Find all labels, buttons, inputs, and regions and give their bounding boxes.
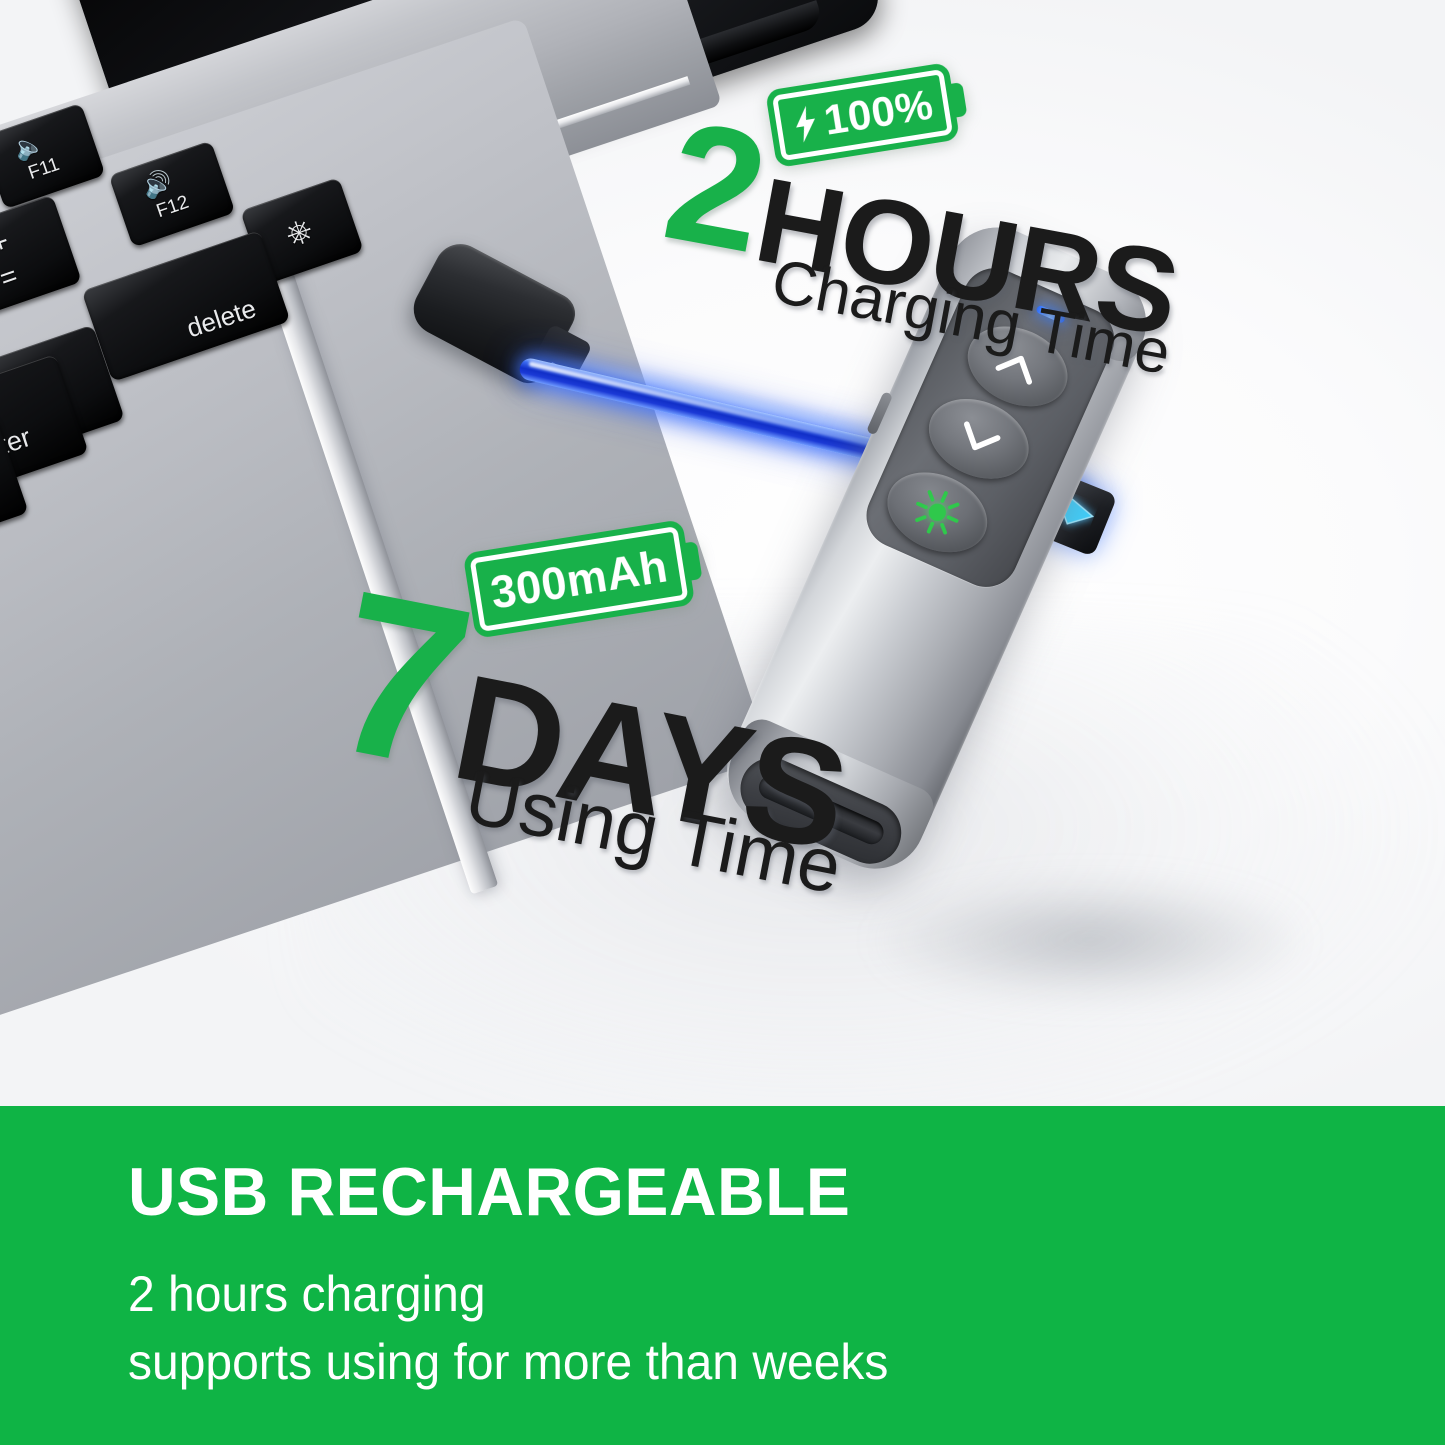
laser-sun-icon [907, 482, 968, 543]
battery-terminal-nub [947, 82, 968, 118]
power-icon: ⎈ [281, 210, 318, 254]
key-plus-label: + [0, 224, 14, 262]
claim-charging-time: 2 HOURS Charging Time [649, 104, 1198, 385]
key-equals-label: = [0, 259, 22, 295]
banner-subline-1: 2 hours charging [128, 1260, 1392, 1328]
banner-subline-2: supports using for more than weeks [128, 1328, 1392, 1396]
chevron-down-icon [952, 416, 1006, 462]
product-infographic: ◂ 🔈 F11 🔊 F12 ⎈ − + = delete [0, 0, 1445, 1445]
feature-banner: USB RECHARGEABLE 2 hours charging suppor… [0, 1106, 1445, 1445]
product-photo-scene: ◂ 🔈 F11 🔊 F12 ⎈ − + = delete [0, 0, 1445, 1106]
banner-headline: USB RECHARGEABLE [128, 1158, 1405, 1226]
